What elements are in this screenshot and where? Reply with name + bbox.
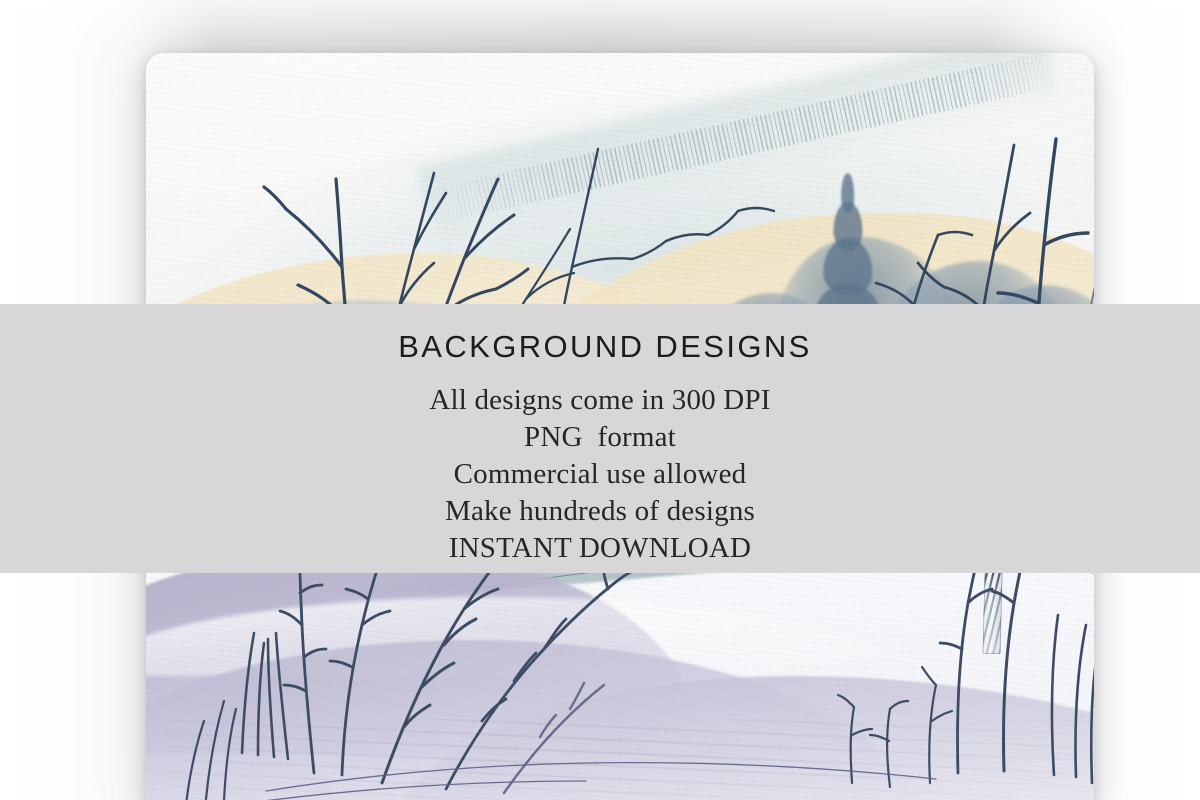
banner-line-license: Commercial use allowed — [454, 456, 747, 493]
banner-line-quantity: Make hundreds of designs — [445, 493, 755, 530]
info-banner: BACKGROUND DESIGNS All designs come in 3… — [0, 304, 1200, 573]
banner-feature-list: All designs come in 300 DPI PNG format C… — [429, 382, 770, 567]
banner-line-dpi: All designs come in 300 DPI — [429, 382, 770, 419]
banner-line-format: PNG format — [524, 419, 676, 456]
banner-line-delivery: INSTANT DOWNLOAD — [449, 530, 751, 567]
banner-title: BACKGROUND DESIGNS — [398, 331, 812, 362]
product-preview-canvas: BACKGROUND DESIGNS All designs come in 3… — [0, 0, 1200, 800]
